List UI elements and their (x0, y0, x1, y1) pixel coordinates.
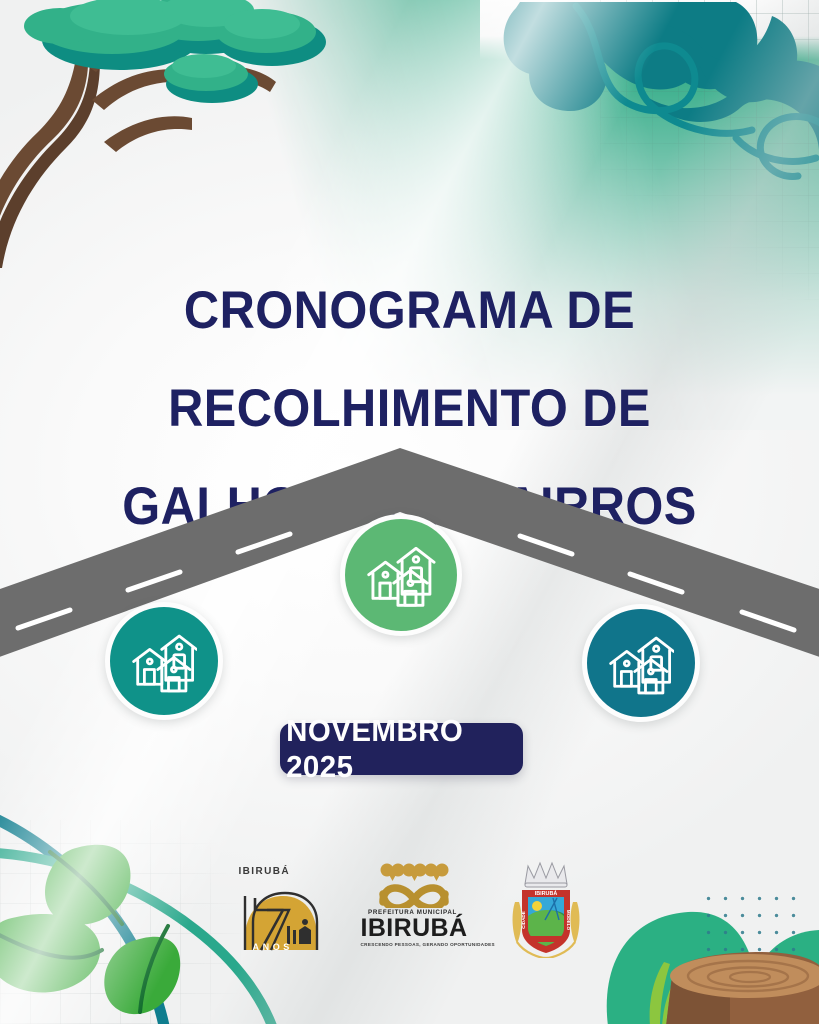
month-badge: NOVEMBRO 2025 (280, 723, 523, 775)
anniversary-logo: IBIRUBÁ ANOS (231, 866, 323, 958)
neighborhood-stop-center[interactable] (340, 514, 462, 636)
neighborhood-stop-left[interactable] (105, 602, 223, 720)
coat-of-arms-logo: IBIRUBÁ CIDADE MODELO (503, 858, 589, 958)
neighborhood-stop-right[interactable] (582, 604, 700, 722)
anniversary-anos-label: ANOS (253, 942, 293, 952)
city-hall-name: IBIRUBÁ (361, 916, 465, 941)
city-hall-slogan: CRESCENDO PESSOAS, GERANDO OPORTUNIDADES (361, 942, 465, 947)
houses-icon (366, 540, 435, 609)
city-hall-logo: PREFEITURA MUNICIPAL IBIRUBÁ CRESCENDO P… (361, 862, 465, 958)
houses-icon (131, 628, 198, 695)
poster-canvas: CRONOGRAMA DE RECOLHIMENTO DE GALHOS NOS… (0, 0, 819, 1024)
month-badge-label: NOVEMBRO 2025 (286, 713, 517, 785)
coat-of-arms-right-text: MODELO (566, 910, 571, 931)
coat-of-arms-top-text: IBIRUBÁ (534, 890, 557, 897)
houses-icon (608, 630, 675, 697)
logo-row: IBIRUBÁ ANOS (0, 858, 819, 958)
coat-of-arms-left-text: CIDADE (521, 911, 526, 929)
coat-of-arms-mark: IBIRUBÁ CIDADE MODELO (503, 858, 589, 958)
city-hall-logo-mark (361, 862, 465, 908)
